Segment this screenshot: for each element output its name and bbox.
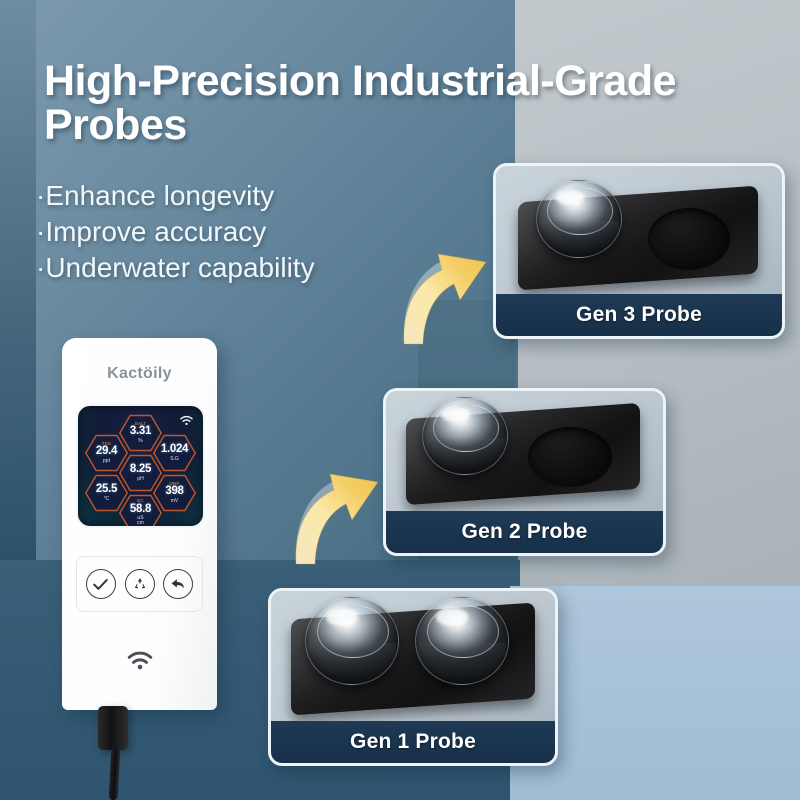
probe-sensor-gen1-right (415, 597, 509, 685)
probe-sensor-gen2 (422, 397, 508, 475)
page-title: High-Precision Industrial-Grade Probes (44, 60, 744, 148)
reading-ph-value: 8.25 (130, 464, 151, 476)
hex-readout-grid: SALT 3.31 % TDS 29.4 ppt 1.024 S.G (78, 406, 203, 526)
reading-tds-value: 29.4 (96, 446, 117, 458)
probe-empty-well-gen3 (648, 208, 730, 270)
reading-orp-value: 398 (165, 486, 183, 498)
reading-tds-unit: ppt (103, 459, 110, 464)
probe-photo-gen2 (386, 391, 663, 511)
reading-ph-unit: pH (137, 477, 143, 482)
probe-caption-gen3: Gen 3 Probe (496, 294, 782, 336)
brand-logo-text: Kactöily (62, 365, 217, 383)
device-button-row (76, 556, 203, 612)
probe-card-gen3[interactable]: Gen 3 Probe (493, 163, 785, 339)
probe-caption-gen2: Gen 2 Probe (386, 511, 663, 553)
probe-photo-gen3 (496, 166, 782, 294)
probe-empty-well-gen2 (528, 427, 612, 487)
check-icon (93, 578, 108, 591)
reading-temp-unit: °C (104, 497, 110, 502)
reading-sg-value: 1.024 (161, 444, 188, 456)
reading-ec: EC 58.8 uS cm (119, 494, 162, 528)
probe-card-gen1[interactable]: Gen 1 Probe (268, 588, 558, 766)
back-arrow-icon (170, 577, 186, 591)
back-button[interactable] (163, 569, 193, 599)
reading-ec-value: 58.8 (130, 504, 151, 516)
probe-card-gen2[interactable]: Gen 2 Probe (383, 388, 666, 556)
reading-salt-unit: % (138, 439, 142, 444)
upgrade-arrow-gen2-to-gen3 (390, 232, 510, 357)
water-quality-monitor-device: Kactöily SALT 3.31 % (62, 338, 217, 710)
reading-orp-unit: mV (171, 499, 179, 504)
reading-salt-value: 3.31 (130, 426, 151, 438)
background-left-edge-shadow (0, 0, 36, 600)
device-wifi-indicator (62, 648, 217, 671)
device-display-screen: SALT 3.31 % TDS 29.4 ppt 1.024 S.G (76, 404, 205, 528)
reading-temp-value: 25.5 (96, 484, 117, 496)
reading-ec-unit: uS cm (137, 516, 144, 527)
bullet-item-1: ·Enhance longevity (36, 178, 466, 214)
recycle-icon (132, 576, 148, 592)
wifi-icon (125, 648, 155, 671)
probe-sensor-gen1-left (305, 597, 399, 685)
poster-canvas: High-Precision Industrial-Grade Probes ·… (0, 0, 800, 800)
probe-caption-gen1: Gen 1 Probe (271, 721, 555, 763)
reading-sg-unit: S.G (170, 457, 179, 462)
probe-sensor-gen3 (536, 180, 622, 258)
recycle-button[interactable] (125, 569, 155, 599)
device-cable-connector (98, 706, 128, 750)
curved-arrow-icon (390, 232, 510, 352)
probe-photo-gen1 (271, 591, 555, 721)
confirm-button[interactable] (86, 569, 116, 599)
